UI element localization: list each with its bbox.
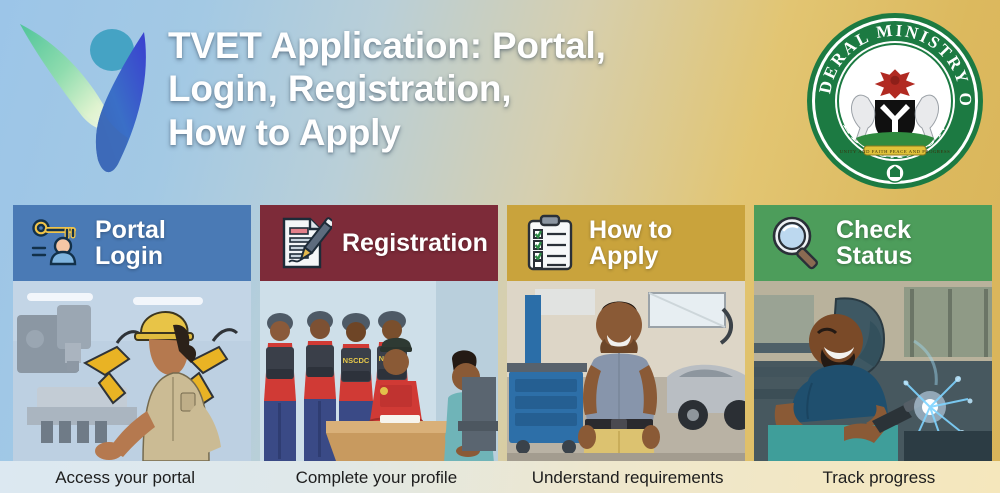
infographic-banner: TVET Application: Portal, Login, Registr…: [0, 0, 1000, 493]
svg-text:UNITY AND FAITH PEACE AND PROG: UNITY AND FAITH PEACE AND PROGRESS: [840, 149, 951, 154]
card-image-how-to-apply: [507, 281, 745, 461]
card-title-registration: Registration: [340, 230, 488, 256]
svg-text:NSCDC: NSCDC: [343, 356, 370, 365]
card-check-status[interactable]: Check Status: [754, 205, 992, 461]
caption-registration: Complete your profile: [255, 463, 497, 493]
card-header-check-status: Check Status: [754, 205, 992, 281]
card-registration[interactable]: Registration: [260, 205, 498, 461]
banner-header: TVET Application: Portal, Login, Registr…: [0, 0, 1000, 200]
clipboard-checklist-icon: [521, 214, 579, 272]
card-header-portal-login: Portal Login: [13, 205, 251, 281]
card-title-check-status: Check Status: [834, 217, 980, 270]
page-title: TVET Application: Portal, Login, Registr…: [168, 24, 788, 154]
caption-how-to-apply: Understand requirements: [507, 463, 749, 493]
card-image-registration: NSCDC NSCDC: [260, 281, 498, 461]
federal-ministry-of-education-seal: FEDERAL MINISTRY OF EDUCATION: [806, 12, 984, 190]
card-header-how-to-apply: How to Apply: [507, 205, 745, 281]
caption-portal-login: Access your portal: [4, 463, 246, 493]
card-header-registration: Registration: [260, 205, 498, 281]
caption-check-status: Track progress: [758, 463, 1000, 493]
card-title-portal-login: Portal Login: [93, 217, 239, 270]
card-image-portal-login: [13, 281, 251, 461]
document-pen-icon: [274, 214, 332, 272]
key-user-icon: [27, 214, 85, 272]
card-portal-login[interactable]: Portal Login: [13, 205, 251, 461]
card-title-how-to-apply: How to Apply: [587, 217, 733, 270]
card-row: Portal Login: [0, 205, 1000, 463]
card-image-check-status: [754, 281, 992, 461]
card-how-to-apply[interactable]: How to Apply: [507, 205, 745, 461]
caption-row: Access your portal Complete your profile…: [0, 463, 1000, 493]
tvet-human-figure-logo: [18, 14, 158, 186]
magnifying-glass-icon: [768, 214, 826, 272]
